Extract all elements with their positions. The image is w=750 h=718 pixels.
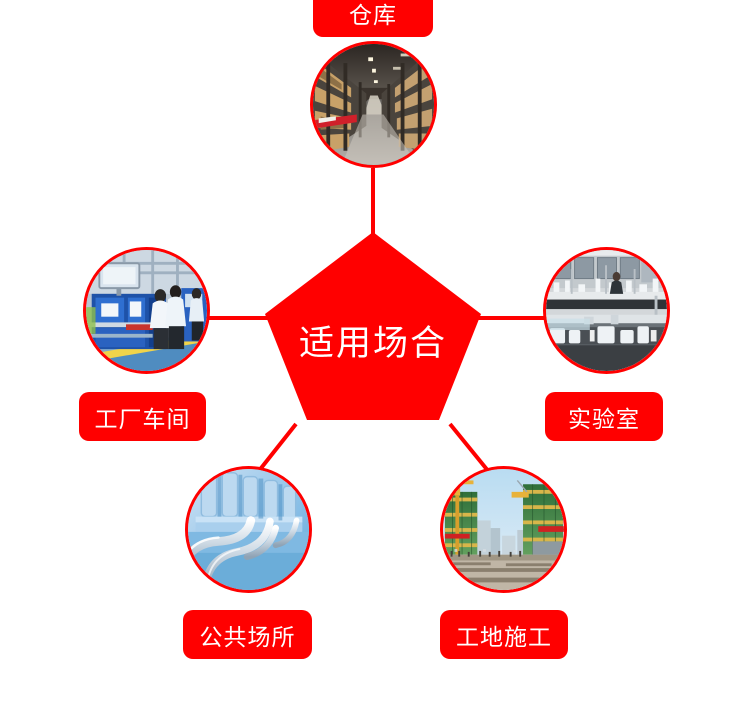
center-pentagon-label: 适用场合 [263, 230, 483, 422]
laboratory-photo [546, 250, 667, 371]
node-badge-construction-site[interactable]: 工地施工 [440, 610, 568, 659]
node-label-factory-workshop: 工厂车间 [95, 400, 191, 434]
infographic-canvas: 适用场合 [0, 0, 750, 718]
node-label-public-place: 公共场所 [200, 618, 296, 652]
node-label-construction-site: 工地施工 [456, 618, 552, 652]
node-image-public-place[interactable] [185, 466, 312, 593]
node-image-factory-workshop[interactable] [83, 247, 210, 374]
node-badge-factory-workshop[interactable]: 工厂车间 [79, 392, 206, 441]
connector-line-bottom-left [258, 424, 296, 472]
node-image-construction-site[interactable] [440, 466, 567, 593]
node-image-laboratory[interactable] [543, 247, 670, 374]
connector-line-bottom-right [450, 424, 489, 472]
factory-workshop-photo [86, 250, 207, 371]
warehouse-aisle-photo [313, 44, 434, 165]
public-seating-photo [188, 469, 309, 590]
node-label-laboratory: 实验室 [568, 400, 640, 434]
node-badge-laboratory[interactable]: 实验室 [545, 392, 663, 441]
construction-site-photo [443, 469, 564, 590]
node-badge-warehouse[interactable]: 仓库 [313, 0, 433, 37]
center-pentagon: 适用场合 [263, 230, 483, 422]
node-label-warehouse: 仓库 [349, 0, 397, 30]
node-image-warehouse[interactable] [310, 41, 437, 168]
node-badge-public-place[interactable]: 公共场所 [183, 610, 312, 659]
